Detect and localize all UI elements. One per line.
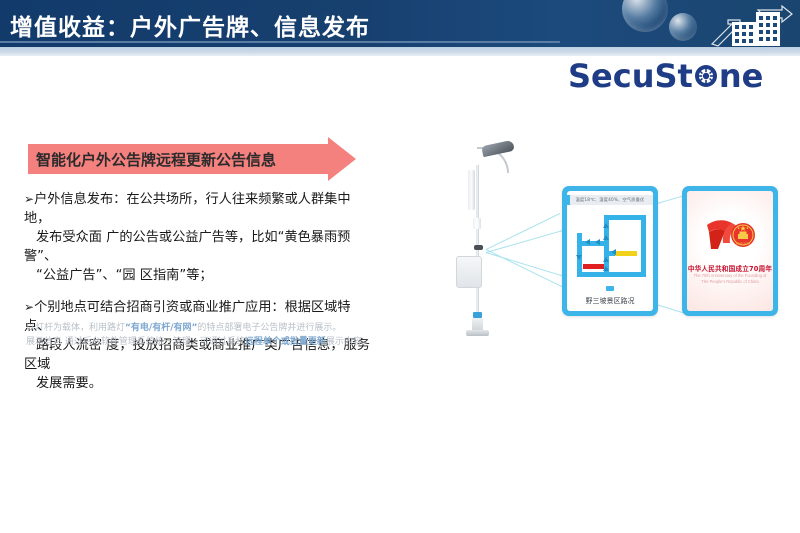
road-segment	[604, 215, 646, 220]
environment-ticker: 温度18℃、湿度40%、空气质量优	[567, 195, 653, 205]
logo-text-after: ne	[719, 57, 763, 95]
flow-arrow-icon	[603, 257, 609, 262]
page-title: 增值收益：户外广告牌、信息发布	[10, 8, 370, 42]
logo-gear-icon	[693, 59, 719, 97]
traffic-display-panel[interactable]: 温度18℃、湿度40%、空气质量优 野三坡景区路况	[562, 186, 658, 316]
flow-arrow-icon	[611, 249, 616, 255]
footnote-line: 展示信息 通过后台软件管理系统统一管理，可通过系统远程单个或批量更新展示内容。	[26, 336, 386, 350]
callout-ray	[486, 249, 564, 288]
bubble-decor-icon	[669, 13, 697, 41]
secustone-logo: SecuStne	[568, 57, 763, 97]
svg-text:1949 2019: 1949 2019	[736, 241, 751, 245]
traffic-road-map	[571, 211, 649, 289]
traffic-display-screen: 温度18℃、湿度40%、空气质量优 野三坡景区路况	[567, 191, 653, 311]
pole-display-screen	[456, 256, 482, 288]
pole-base	[466, 330, 489, 336]
poster-screen: 1949 2019 中华人民共和国成立70周年 The 70th Anniver…	[687, 191, 773, 311]
flow-arrow-icon	[603, 223, 609, 228]
road-segment	[641, 215, 646, 277]
flow-arrow-icon	[603, 235, 609, 240]
slide-header: 增值收益：户外广告牌、信息发布	[0, 0, 800, 47]
footnote-highlight: “有电/有杆/有网”	[125, 323, 197, 333]
poster-caption-en-line: The People's Republic of China	[687, 279, 773, 285]
seventy-emblem-icon: 1949 2019	[705, 217, 757, 251]
bullet-marker-icon: ➢	[24, 300, 34, 314]
pole-sensor-module	[473, 218, 481, 229]
callout-banner: 智能化户外公告牌远程更新公告信息	[28, 144, 328, 174]
footnote-text: 展示内容。	[326, 337, 371, 347]
footnote-text: 展示信息 通过后台软件管理系统统一管理，可通过系统	[26, 337, 245, 347]
footnote-highlight: 远程单个或批量更新	[245, 337, 326, 347]
panel-caption: 野三坡景区路况	[567, 296, 653, 306]
flow-arrow-icon	[576, 255, 582, 260]
bullet-line: 户外信息发布：在公共场所，行人往来频繁或人群集中地，	[24, 192, 351, 226]
camera-icon	[474, 245, 483, 250]
logo-text-before: SecuSt	[568, 57, 693, 95]
bullet-line: “公益广告”、“园 区指南”等；	[24, 266, 376, 285]
bullet-list: ➢户外信息发布：在公共场所，行人往来频繁或人群集中地， 发布受众面 广的公告或公…	[24, 190, 376, 406]
flow-arrow-icon	[603, 266, 609, 271]
flow-arrow-icon	[585, 239, 590, 245]
callout-banner-label: 智能化户外公告牌远程更新公告信息	[28, 149, 276, 170]
road-segment	[577, 241, 609, 246]
anniversary-poster-panel[interactable]: 1949 2019 中华人民共和国成立70周年 The 70th Anniver…	[682, 186, 778, 316]
footnote-text: 的特点部署电子公告牌并进行展示。	[197, 323, 341, 333]
road-status-congested	[583, 264, 604, 269]
road-segment	[577, 272, 646, 277]
callout-ray	[486, 213, 560, 250]
footnote-line: 以灯杆为载体，利用路灯“有电/有杆/有网”的特点部署电子公告牌并进行展示。	[26, 322, 386, 336]
buildings-growth-icon	[706, 4, 796, 47]
title-underline	[0, 41, 560, 43]
road-segment	[577, 233, 582, 275]
flow-arrow-icon	[595, 239, 600, 245]
road-status-slow	[615, 251, 637, 256]
list-item: ➢户外信息发布：在公共场所，行人往来频繁或人群集中地， 发布受众面 广的公告或公…	[24, 190, 376, 285]
bullet-line: 发布受众面 广的公告或公益广告等，比如“黄色暴雨预警”、	[24, 228, 376, 266]
poster-caption-en: The 70th Anniversary of the Founding of …	[687, 273, 773, 285]
header-subbar	[0, 47, 800, 56]
bullet-line: 发展需要。	[24, 374, 376, 393]
poster-caption-cn: 中华人民共和国成立70周年	[687, 263, 773, 273]
bubble-decor-icon	[622, 0, 668, 32]
callout-banner-arrow-icon	[328, 137, 356, 181]
pole-antenna-module	[468, 170, 475, 210]
footnote: 以灯杆为载体，利用路灯“有电/有杆/有网”的特点部署电子公告牌并进行展示。 展示…	[26, 322, 386, 349]
panel-tab-marker	[606, 286, 614, 291]
bullet-marker-icon: ➢	[24, 192, 34, 206]
footnote-text: 以灯杆为载体，利用路灯	[26, 323, 125, 333]
